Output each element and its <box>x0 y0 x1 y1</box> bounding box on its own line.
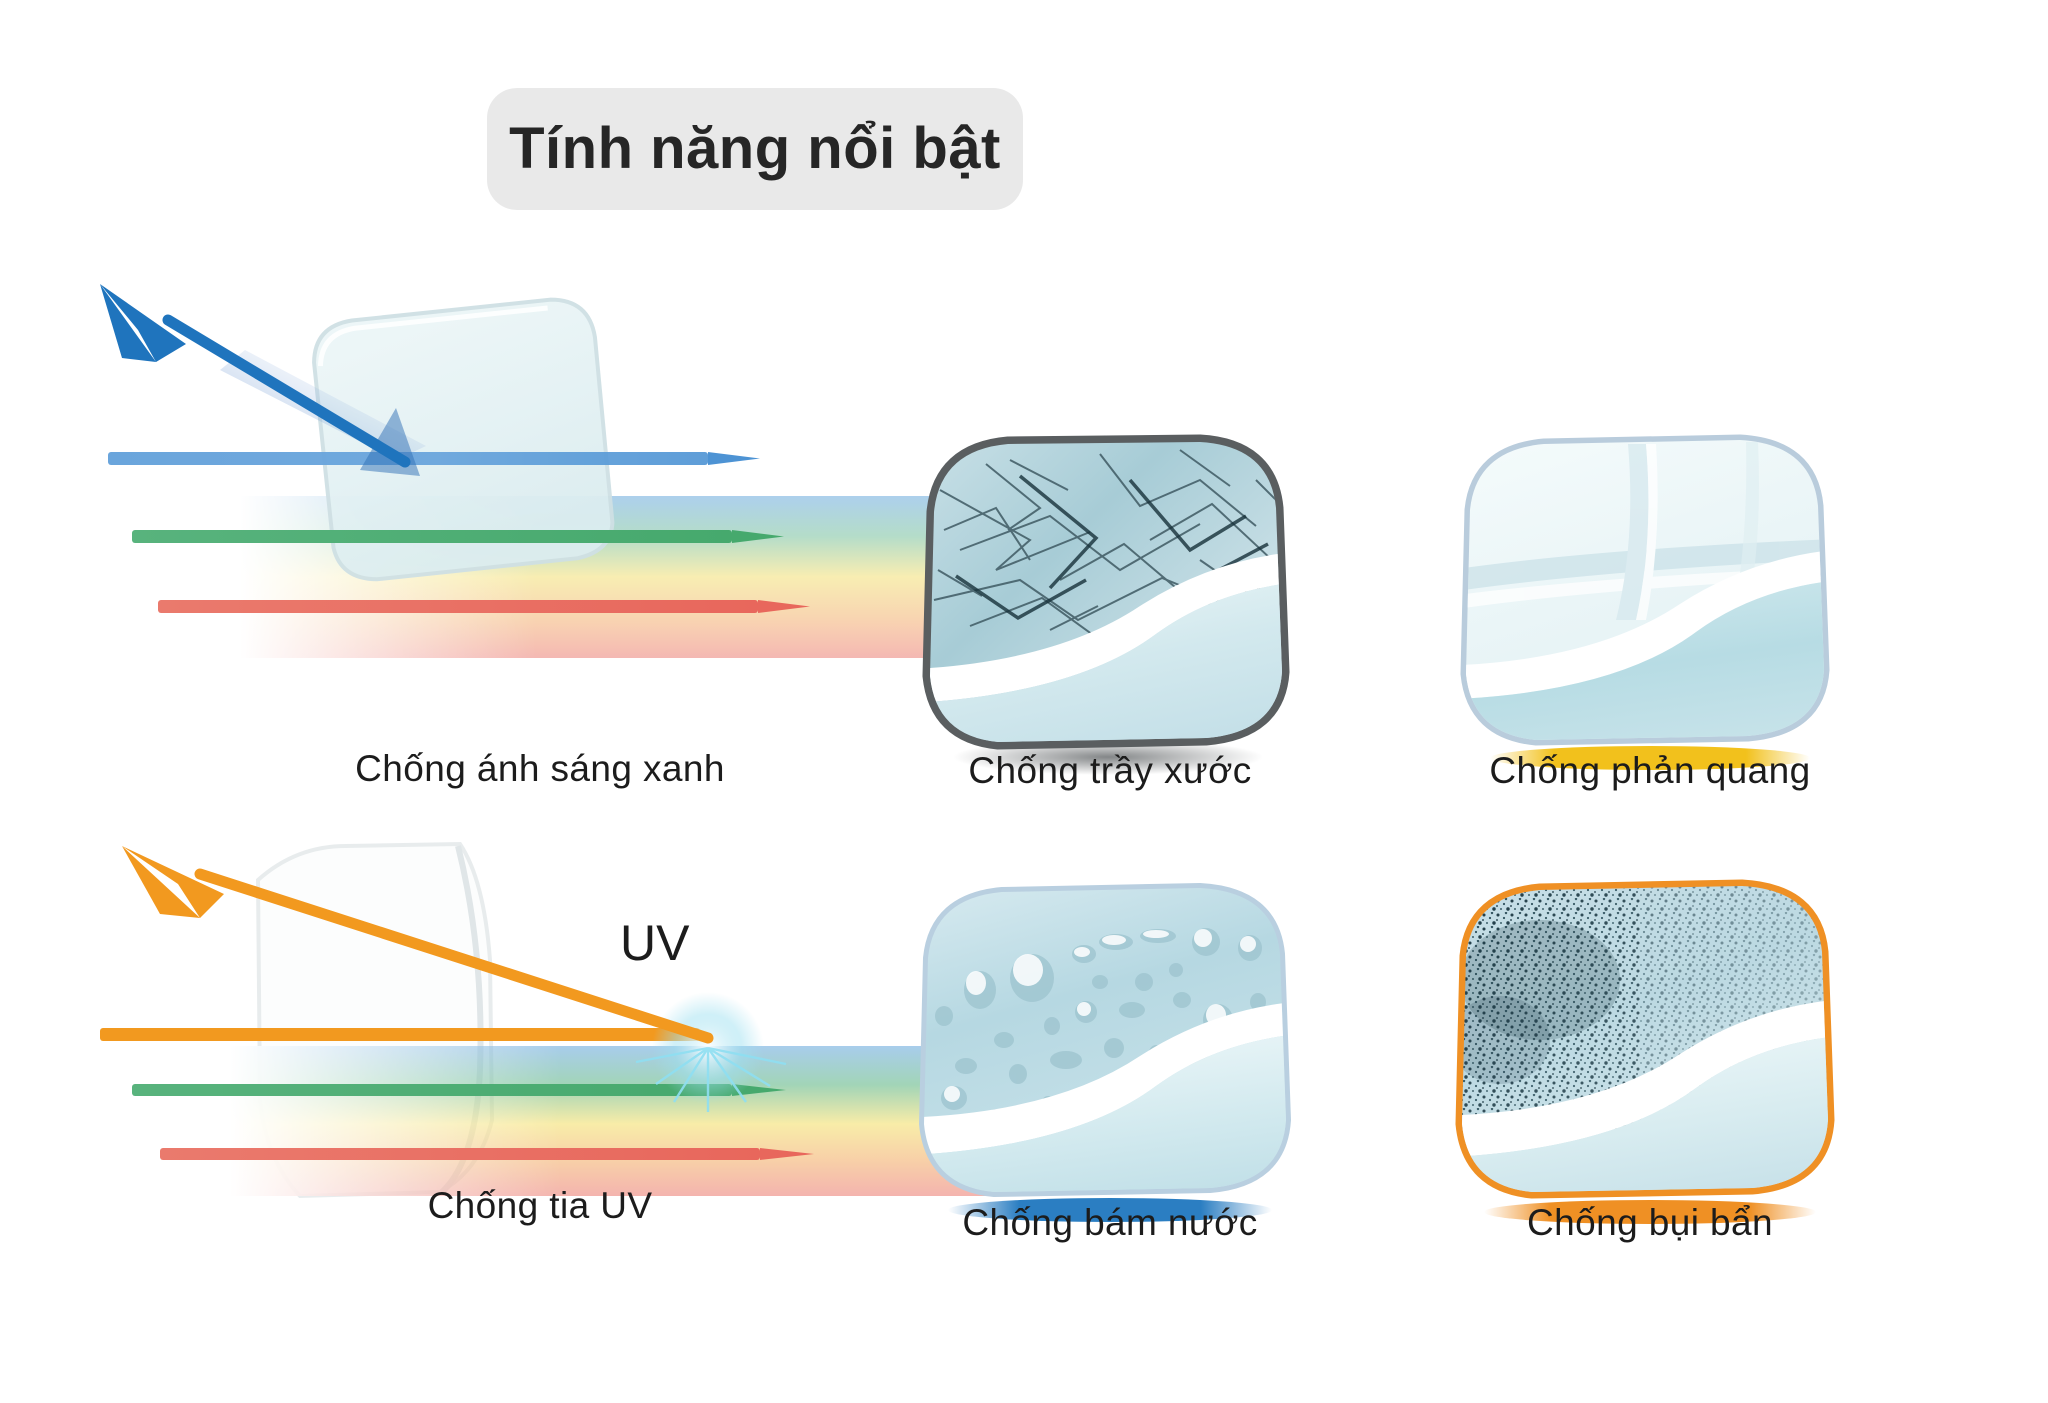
feature-caption: Chống bám nước <box>900 1202 1320 1244</box>
feature-water: Chống bám nước <box>900 870 1320 1270</box>
feature-anti-glare: Chống phản quang <box>1440 420 1860 820</box>
infographic-canvas: Tính năng nổi bật <box>0 0 2048 1403</box>
feature-caption: Chống trầy xước <box>900 750 1320 792</box>
page-title-badge: Tính năng nổi bật <box>487 88 1023 210</box>
ray-red <box>158 600 810 613</box>
ray-green <box>132 530 784 543</box>
feature-uv: UV Chống tia UV <box>60 840 1020 1270</box>
feature-caption: Chống bụi bẩn <box>1440 1202 1860 1244</box>
feature-blue-light: Chống ánh sáng xanh <box>60 300 1020 820</box>
feature-dust: Chống bụi bẩn <box>1440 870 1860 1270</box>
ray-red <box>160 1148 814 1160</box>
ray-blue <box>108 452 760 465</box>
ray-orange <box>100 1028 700 1041</box>
feature-scratch: Chống trầy xước <box>900 420 1320 820</box>
feature-caption: Chống tia UV <box>60 1185 1020 1227</box>
page-title: Tính năng nổi bật <box>509 120 1001 178</box>
lens-blue-light-icon <box>60 300 1020 820</box>
uv-label: UV <box>620 915 690 971</box>
feature-caption: Chống phản quang <box>1440 750 1860 792</box>
feature-caption: Chống ánh sáng xanh <box>60 748 1020 790</box>
